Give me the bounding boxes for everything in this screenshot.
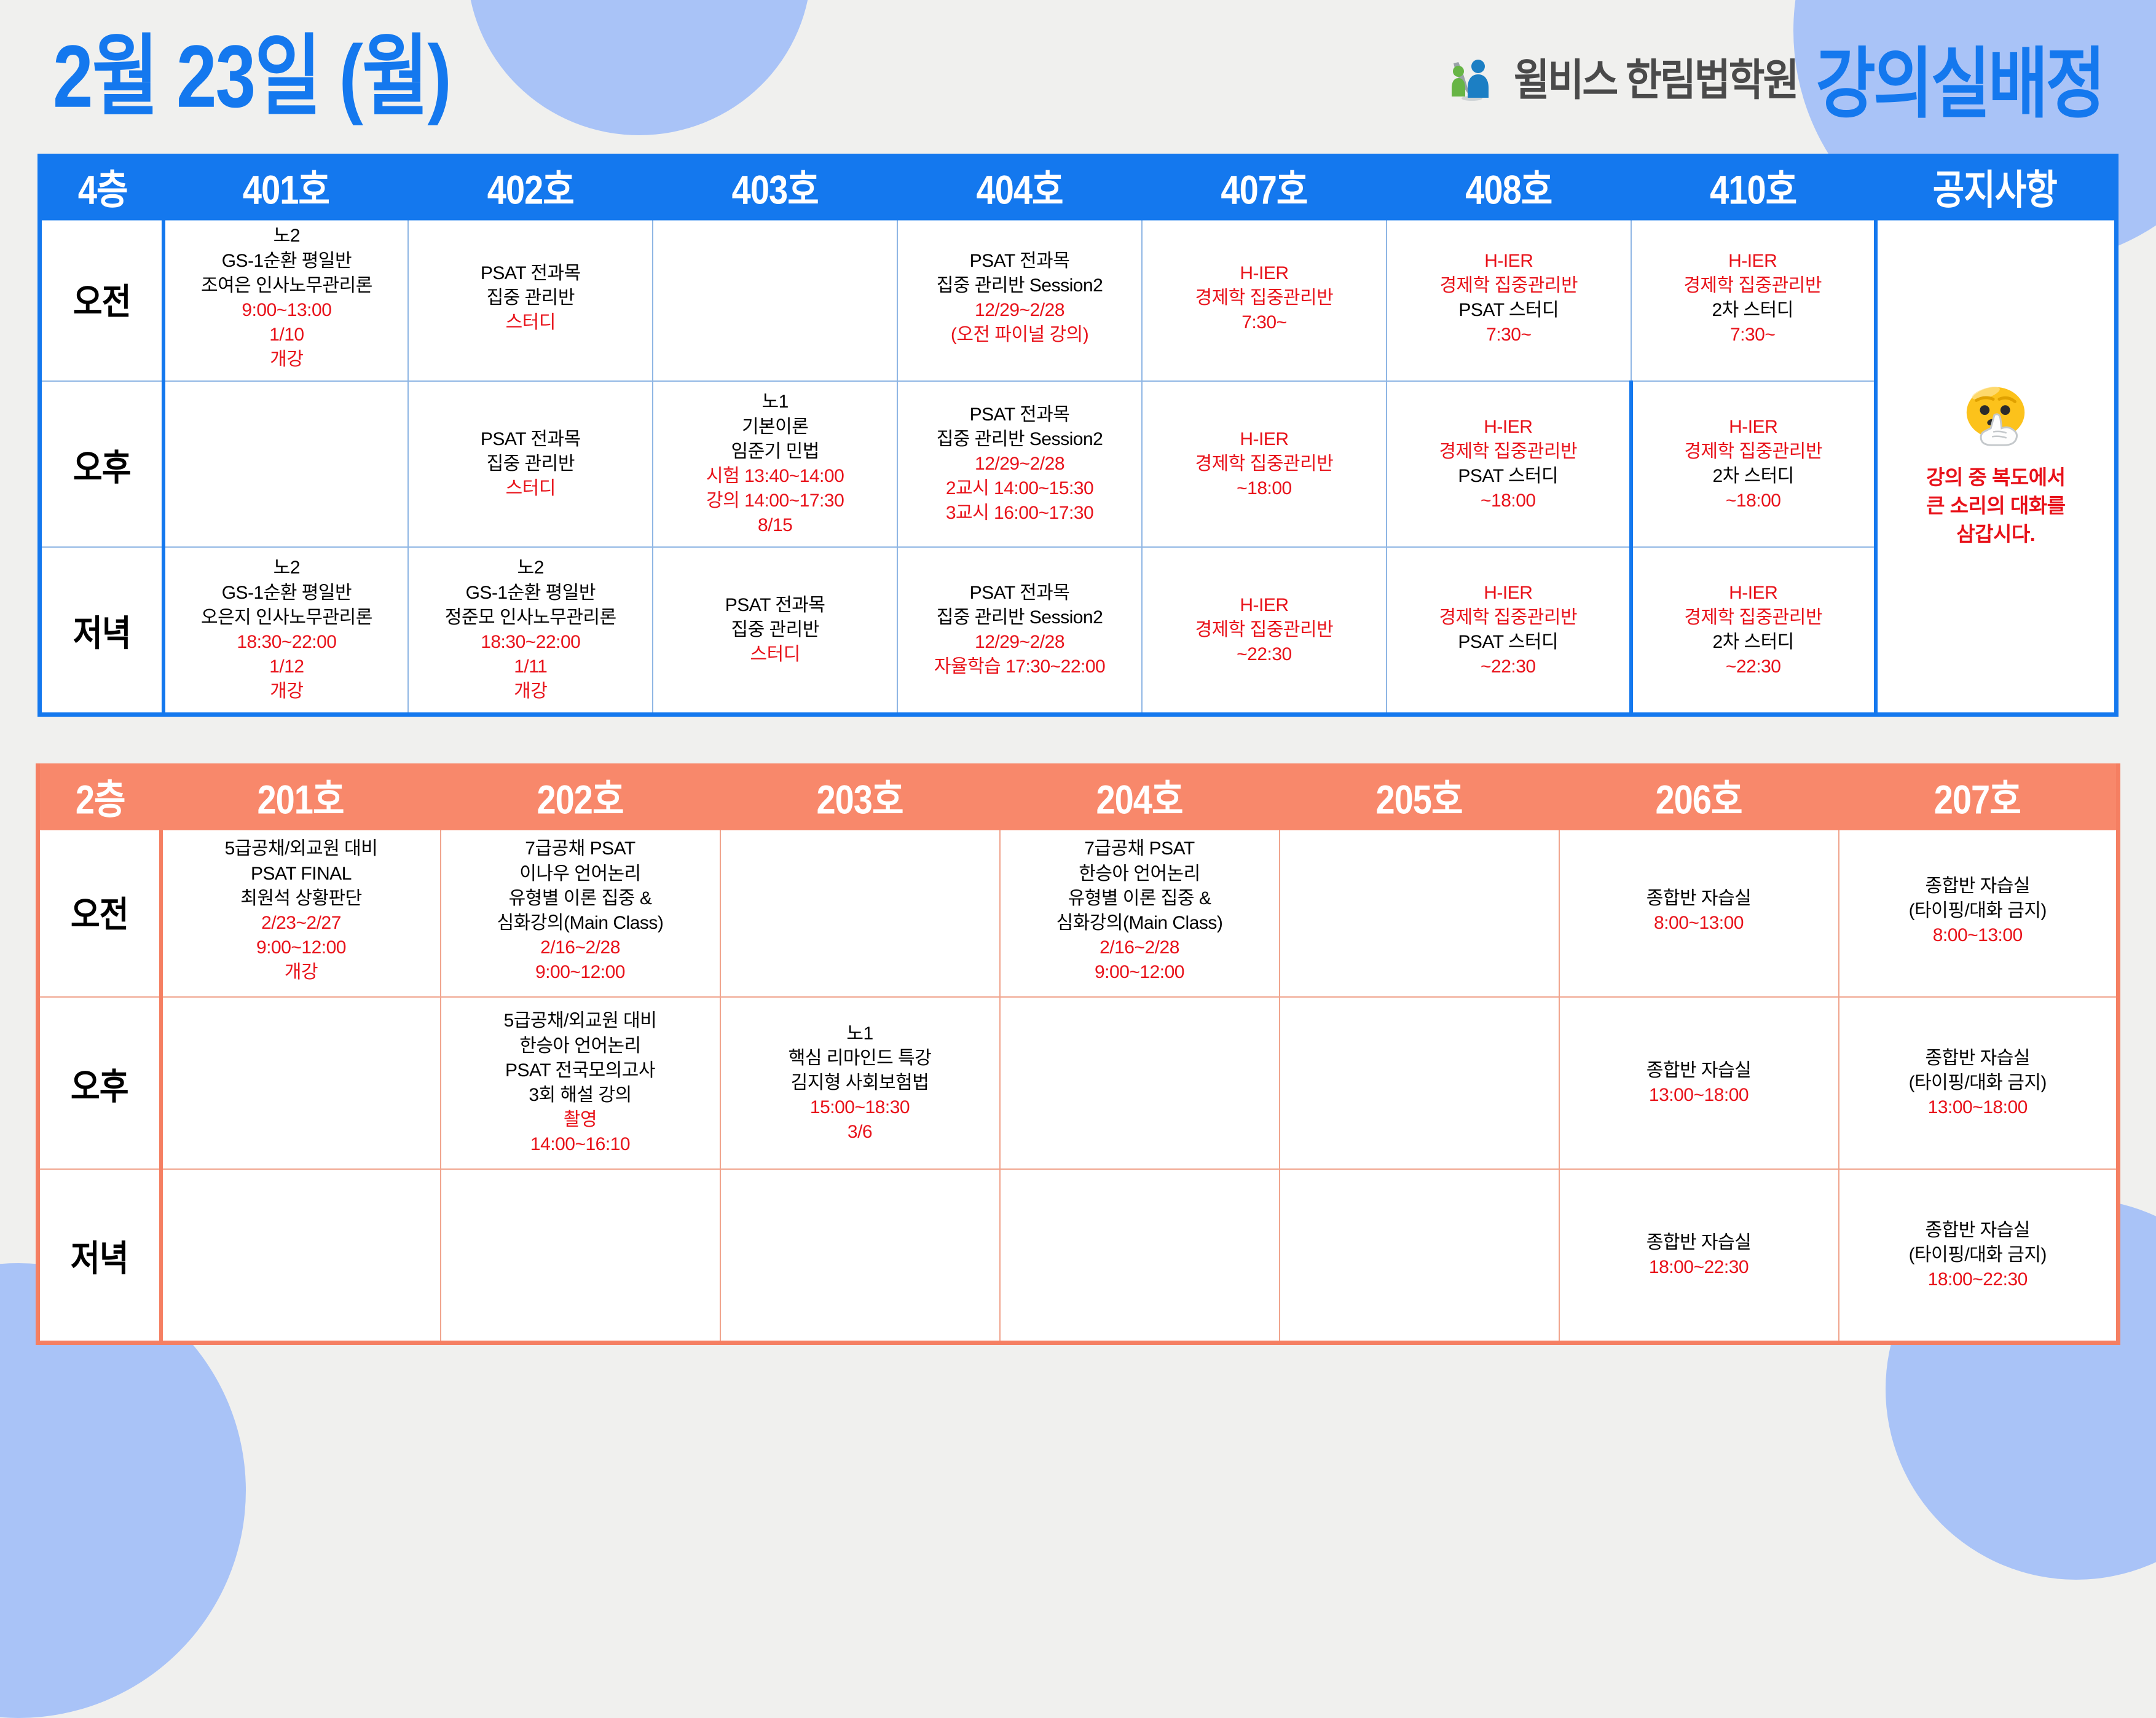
- row-header-오후: 오후: [38, 987, 161, 1180]
- cell-line: 촬영: [441, 1108, 720, 1132]
- table-row: 오전노2GS-1순환 평일반조여은 인사노무관리론9:00~13:001/10개…: [40, 215, 2117, 381]
- cell-line: 경제학 집중관리반: [1143, 286, 1386, 310]
- cell-line: 5급공채/외교원 대비: [441, 1009, 720, 1033]
- cell-line: 7:30~: [1387, 323, 1631, 347]
- schedule-cell[interactable]: 노2GS-1순환 평일반조여은 인사노무관리론9:00~13:001/10개강: [163, 215, 408, 381]
- cell-line: 시험 13:40~14:00: [653, 464, 897, 489]
- cell-line: PSAT 전과목: [409, 427, 652, 452]
- schedule-cell[interactable]: H-IER경제학 집중관리반~18:00: [1142, 381, 1387, 547]
- schedule-cell[interactable]: 7급공채 PSAT이나우 언어논리유형별 이론 집중 &심화강의(Main Cl…: [441, 825, 720, 997]
- schedule-cell[interactable]: [1280, 825, 1559, 997]
- column-header-408호: 408호: [1387, 151, 1631, 221]
- floor4-table-header: 4층 401호402호403호404호407호408호410호공지사항: [40, 156, 2117, 216]
- notice-line: 삼갑시다.: [1878, 520, 2114, 548]
- cell-line: (타이핑/대화 금지): [1839, 1071, 2117, 1095]
- cell-line: 경제학 집중관리반: [1632, 274, 1874, 298]
- cell-line: PSAT 스터디: [1387, 630, 1629, 655]
- cell-line: 12/29~2/28: [898, 630, 1141, 655]
- cell-line: 9:00~12:00: [441, 960, 720, 985]
- cell-line: H-IER: [1143, 427, 1386, 452]
- cell-line: 개강: [165, 347, 407, 372]
- column-header-401호: 401호: [163, 151, 408, 221]
- cell-line: 스터디: [409, 310, 652, 335]
- cell-line: 종합반 자습실: [1560, 1058, 1838, 1083]
- cell-line: 개강: [163, 960, 440, 985]
- schedule-cell[interactable]: 노2GS-1순환 평일반오은지 인사노무관리론18:30~22:001/12개강: [163, 547, 408, 715]
- cell-line: 1/10: [165, 323, 407, 347]
- cell-line: 9:00~12:00: [1001, 960, 1279, 985]
- schedule-cell[interactable]: [653, 215, 897, 381]
- cell-line: 종합반 자습실: [1839, 1046, 2117, 1071]
- column-header-205호: 205호: [1280, 760, 1559, 830]
- schedule-cell[interactable]: 종합반 자습실8:00~13:00: [1559, 825, 1839, 997]
- table-row: 오후PSAT 전과목집중 관리반스터디노1기본이론임준기 민법시험 13:40~…: [40, 381, 2117, 547]
- cell-line: GS-1순환 평일반: [409, 581, 652, 605]
- cell-line: 13:00~18:00: [1839, 1095, 2117, 1120]
- schedule-cell[interactable]: 종합반 자습실13:00~18:00: [1559, 997, 1839, 1169]
- cell-line: 개강: [165, 679, 407, 704]
- schedule-cell[interactable]: [1280, 1169, 1559, 1343]
- cell-line: 이나우 언어논리: [441, 862, 720, 886]
- cell-line: (오전 파이널 강의): [898, 323, 1141, 347]
- cell-line: H-IER: [1387, 249, 1631, 274]
- row-header-저녁: 저녁: [40, 537, 164, 725]
- cell-line: H-IER: [1387, 581, 1629, 605]
- cell-line: (타이핑/대화 금지): [1839, 1243, 2117, 1267]
- schedule-cell[interactable]: H-IER경제학 집중관리반PSAT 스터디~18:00: [1387, 381, 1631, 547]
- column-header-403호: 403호: [653, 151, 897, 221]
- cell-line: 노1: [721, 1022, 999, 1046]
- column-header-206호: 206호: [1559, 760, 1839, 830]
- table-row: 저녁종합반 자습실18:00~22:30종합반 자습실(타이핑/대화 금지)18…: [38, 1169, 2119, 1343]
- brand-area: 윌비스 한림법학원 강의실배정: [1446, 30, 2103, 124]
- cell-line: 종합반 자습실: [1560, 886, 1838, 911]
- cell-line: ~18:00: [1633, 489, 1874, 513]
- schedule-cell[interactable]: 노1기본이론임준기 민법시험 13:40~14:00강의 14:00~17:30…: [653, 381, 897, 547]
- cell-line: 14:00~16:10: [441, 1132, 720, 1157]
- notice-text: 강의 중 복도에서큰 소리의 대화를삼갑시다.: [1878, 463, 2114, 549]
- notice-cell: 강의 중 복도에서큰 소리의 대화를삼갑시다.: [1876, 215, 2117, 715]
- floor2-table-header: 2층 201호202호203호204호205호206호207호: [38, 766, 2119, 826]
- schedule-cell[interactable]: H-IER경제학 집중관리반2차 스터디~22:30: [1631, 547, 1876, 715]
- cell-line: 김지형 사회보험법: [721, 1071, 999, 1095]
- schedule-cell[interactable]: H-IER경제학 집중관리반7:30~: [1142, 215, 1387, 381]
- cell-line: 8/15: [653, 513, 897, 538]
- schedule-cell[interactable]: [720, 1169, 1000, 1343]
- schedule-cell[interactable]: PSAT 전과목집중 관리반 Session212/29~2/28(오전 파이널…: [897, 215, 1142, 381]
- cell-line: 종합반 자습실: [1839, 1218, 2117, 1243]
- row-header-저녁: 저녁: [38, 1159, 161, 1353]
- cell-line: 경제학 집중관리반: [1633, 605, 1874, 630]
- column-header-202호: 202호: [441, 760, 720, 830]
- cell-line: 12/29~2/28: [898, 452, 1141, 476]
- cell-line: 1/11: [409, 655, 652, 679]
- cell-line: 12/29~2/28: [898, 298, 1141, 323]
- cell-line: 2/23~2/27: [163, 911, 440, 936]
- column-header-204호: 204호: [1000, 760, 1280, 830]
- cell-line: PSAT 스터디: [1387, 464, 1629, 489]
- table-spacer: [0, 717, 2156, 763]
- notice-line: 큰 소리의 대화를: [1878, 492, 2114, 520]
- cell-line: 경제학 집중관리반: [1143, 618, 1386, 642]
- cell-line: 9:00~13:00: [165, 298, 407, 323]
- cell-line: 집중 관리반: [653, 618, 897, 642]
- column-header-404호: 404호: [897, 151, 1142, 221]
- cell-line: 8:00~13:00: [1839, 923, 2117, 948]
- cell-line: 유형별 이론 집중 &: [1001, 886, 1279, 911]
- column-header-207호: 207호: [1839, 760, 2119, 830]
- schedule-cell[interactable]: [161, 997, 441, 1169]
- cell-line: 한승아 언어논리: [441, 1034, 720, 1058]
- wilbis-people-logo-icon: [1446, 51, 1498, 103]
- schedule-cell[interactable]: 노1핵심 리마인드 특강김지형 사회보험법15:00~18:303/6: [720, 997, 1000, 1169]
- cell-line: 15:00~18:30: [721, 1095, 999, 1120]
- schedule-cell[interactable]: [163, 381, 408, 547]
- column-header-201호: 201호: [161, 760, 441, 830]
- cell-line: 7:30~: [1632, 323, 1874, 347]
- cell-line: 9:00~12:00: [163, 936, 440, 960]
- cell-line: PSAT 전국모의고사: [441, 1058, 720, 1083]
- cell-line: 노2: [165, 556, 407, 580]
- cell-line: 2차 스터디: [1633, 464, 1874, 489]
- cell-line: 조여은 인사노무관리론: [165, 274, 407, 298]
- cell-line: 2차 스터디: [1633, 630, 1874, 655]
- page-title: 2월 23일 (월): [53, 33, 450, 121]
- schedule-cell[interactable]: [441, 1169, 720, 1343]
- cell-line: PSAT 전과목: [409, 261, 652, 286]
- cell-line: 스터디: [653, 642, 897, 667]
- cell-line: H-IER: [1633, 415, 1874, 439]
- cell-line: 7급공채 PSAT: [441, 837, 720, 861]
- cell-line: PSAT 전과목: [898, 403, 1141, 427]
- cell-line: 심화강의(Main Class): [1001, 911, 1279, 936]
- schedule-cell[interactable]: PSAT 전과목집중 관리반스터디: [408, 215, 653, 381]
- schedule-cell[interactable]: PSAT 전과목집중 관리반스터디: [408, 381, 653, 547]
- cell-line: 종합반 자습실: [1839, 874, 2117, 899]
- cell-line: 유형별 이론 집중 &: [441, 886, 720, 911]
- cell-line: 3회 해설 강의: [441, 1083, 720, 1108]
- schedule-cell[interactable]: [1280, 997, 1559, 1169]
- cell-line: 노2: [409, 556, 652, 580]
- cell-line: 기본이론: [653, 415, 897, 439]
- cell-line: 경제학 집중관리반: [1143, 452, 1386, 476]
- academy-brand: 윌비스 한림법학원: [1446, 49, 1798, 105]
- schedule-cell[interactable]: [161, 1169, 441, 1343]
- cell-line: H-IER: [1387, 415, 1629, 439]
- brand-name-label: 윌비스 한림법학원: [1514, 45, 1798, 108]
- cell-line: 심화강의(Main Class): [441, 911, 720, 936]
- column-header-402호: 402호: [408, 151, 653, 221]
- floor2-table-body: 오전5급공채/외교원 대비PSAT FINAL최원석 상황판단2/23~2/27…: [38, 825, 2119, 1343]
- schedule-cell[interactable]: [720, 825, 1000, 997]
- shushing-face-icon: [1878, 380, 2114, 452]
- floor4-table-body: 오전노2GS-1순환 평일반조여은 인사노무관리론9:00~13:001/10개…: [40, 215, 2117, 715]
- cell-line: 18:30~22:00: [409, 630, 652, 655]
- schedule-cell[interactable]: H-IER경제학 집중관리반2차 스터디~18:00: [1631, 381, 1876, 547]
- page-header: 2월 23일 (월) 윌비스 한림법학원 강의실배정: [0, 0, 2156, 154]
- schedule-cell[interactable]: 종합반 자습실(타이핑/대화 금지)13:00~18:00: [1839, 997, 2119, 1169]
- cell-line: 7:30~: [1143, 310, 1386, 335]
- cell-line: 경제학 집중관리반: [1387, 274, 1631, 298]
- cell-line: 최원석 상황판단: [163, 886, 440, 911]
- cell-line: 3/6: [721, 1120, 999, 1145]
- schedule-cell[interactable]: H-IER경제학 집중관리반~22:30: [1142, 547, 1387, 715]
- cell-line: 2/16~2/28: [441, 936, 720, 960]
- cell-line: H-IER: [1633, 581, 1874, 605]
- cell-line: 집중 관리반 Session2: [898, 427, 1141, 452]
- schedule-cell[interactable]: [1000, 997, 1280, 1169]
- cell-line: 3교시 16:00~17:30: [898, 501, 1141, 526]
- cell-line: (타이핑/대화 금지): [1839, 899, 2117, 923]
- column-header-410호: 410호: [1631, 151, 1876, 221]
- cell-line: 2/16~2/28: [1001, 936, 1279, 960]
- cell-line: 자율학습 17:30~22:00: [898, 655, 1141, 679]
- row-header-오전: 오전: [38, 814, 161, 1007]
- cell-line: 종합반 자습실: [1560, 1231, 1838, 1255]
- cell-line: ~22:30: [1143, 642, 1386, 667]
- schedule-cell[interactable]: H-IER경제학 집중관리반PSAT 스터디~22:30: [1387, 547, 1631, 715]
- cell-line: 경제학 집중관리반: [1387, 605, 1629, 630]
- cell-line: 한승아 언어논리: [1001, 862, 1279, 886]
- brand-headline: 강의실배정: [1816, 21, 2103, 133]
- cell-line: 집중 관리반: [409, 286, 652, 310]
- cell-line: 2교시 14:00~15:30: [898, 476, 1141, 501]
- cell-line: PSAT 전과목: [653, 593, 897, 618]
- schedule-cell[interactable]: 5급공채/외교원 대비한승아 언어논리PSAT 전국모의고사3회 해설 강의촬영…: [441, 997, 720, 1169]
- schedule-cell[interactable]: 종합반 자습실(타이핑/대화 금지)18:00~22:30: [1839, 1169, 2119, 1343]
- column-header-203호: 203호: [720, 760, 1000, 830]
- column-header-407호: 407호: [1142, 151, 1387, 221]
- table-row: 저녁노2GS-1순환 평일반오은지 인사노무관리론18:30~22:001/12…: [40, 547, 2117, 715]
- cell-line: PSAT FINAL: [163, 862, 440, 886]
- schedule-cell[interactable]: PSAT 전과목집중 관리반스터디: [653, 547, 897, 715]
- schedule-board: 2월 23일 (월) 윌비스 한림법학원 강의실배정: [0, 0, 2156, 1345]
- cell-line: ~22:30: [1387, 655, 1629, 679]
- cell-line: GS-1순환 평일반: [165, 581, 407, 605]
- cell-line: H-IER: [1143, 593, 1386, 618]
- schedule-cell[interactable]: PSAT 전과목집중 관리반 Session212/29~2/282교시 14:…: [897, 381, 1142, 547]
- row-header-오전: 오전: [40, 205, 164, 391]
- row-header-오후: 오후: [40, 371, 164, 557]
- cell-line: 경제학 집중관리반: [1633, 439, 1874, 464]
- cell-line: ~18:00: [1387, 489, 1629, 513]
- cell-line: 집중 관리반 Session2: [898, 605, 1141, 630]
- cell-line: 집중 관리반 Session2: [898, 274, 1141, 298]
- cell-line: PSAT 전과목: [898, 581, 1141, 605]
- schedule-cell[interactable]: 7급공채 PSAT한승아 언어논리유형별 이론 집중 &심화강의(Main Cl…: [1000, 825, 1280, 997]
- cell-line: PSAT 전과목: [898, 249, 1141, 274]
- cell-line: 2차 스터디: [1632, 298, 1874, 323]
- cell-line: 경제학 집중관리반: [1387, 439, 1629, 464]
- cell-line: H-IER: [1143, 261, 1386, 286]
- cell-line: 8:00~13:00: [1560, 911, 1838, 936]
- schedule-cell[interactable]: H-IER경제학 집중관리반2차 스터디7:30~: [1631, 215, 1876, 381]
- cell-line: 1/12: [165, 655, 407, 679]
- cell-line: 핵심 리마인드 특강: [721, 1046, 999, 1071]
- floor4-schedule-table: 4층 401호402호403호404호407호408호410호공지사항 오전노2…: [37, 154, 2119, 717]
- cell-line: PSAT 스터디: [1387, 298, 1631, 323]
- schedule-cell[interactable]: 종합반 자습실18:00~22:30: [1559, 1169, 1839, 1343]
- schedule-cell[interactable]: 노2GS-1순환 평일반정준모 인사노무관리론18:30~22:001/11개강: [408, 547, 653, 715]
- schedule-cell[interactable]: H-IER경제학 집중관리반PSAT 스터디7:30~: [1387, 215, 1631, 381]
- cell-line: 스터디: [409, 476, 652, 501]
- cell-line: H-IER: [1632, 249, 1874, 274]
- cell-line: 노2: [165, 224, 407, 248]
- cell-line: 13:00~18:00: [1560, 1083, 1838, 1108]
- cell-line: GS-1순환 평일반: [165, 249, 407, 274]
- schedule-cell[interactable]: 종합반 자습실(타이핑/대화 금지)8:00~13:00: [1839, 825, 2119, 997]
- notice-line: 강의 중 복도에서: [1878, 463, 2114, 492]
- table-row: 오전5급공채/외교원 대비PSAT FINAL최원석 상황판단2/23~2/27…: [38, 825, 2119, 997]
- schedule-cell[interactable]: [1000, 1169, 1280, 1343]
- cell-line: 강의 14:00~17:30: [653, 489, 897, 513]
- cell-line: ~18:00: [1143, 476, 1386, 501]
- cell-line: 노1: [653, 390, 897, 414]
- floor2-schedule-table: 2층 201호202호203호204호205호206호207호 오전5급공채/외…: [36, 763, 2120, 1345]
- cell-line: 정준모 인사노무관리론: [409, 605, 652, 630]
- column-header-공지사항: 공지사항: [1876, 151, 2117, 221]
- cell-line: ~22:30: [1633, 655, 1874, 679]
- cell-line: 임준기 민법: [653, 439, 897, 464]
- cell-line: 18:00~22:30: [1839, 1267, 2117, 1292]
- cell-line: 18:30~22:00: [165, 630, 407, 655]
- schedule-cell[interactable]: PSAT 전과목집중 관리반 Session212/29~2/28자율학습 17…: [897, 547, 1142, 715]
- table-row: 오후5급공채/외교원 대비한승아 언어논리PSAT 전국모의고사3회 해설 강의…: [38, 997, 2119, 1169]
- cell-line: 개강: [409, 679, 652, 704]
- cell-line: 집중 관리반: [409, 452, 652, 476]
- cell-line: 5급공채/외교원 대비: [163, 837, 440, 861]
- cell-line: 7급공채 PSAT: [1001, 837, 1279, 861]
- cell-line: 18:00~22:30: [1560, 1255, 1838, 1280]
- cell-line: 오은지 인사노무관리론: [165, 605, 407, 630]
- schedule-cell[interactable]: 5급공채/외교원 대비PSAT FINAL최원석 상황판단2/23~2/279:…: [161, 825, 441, 997]
